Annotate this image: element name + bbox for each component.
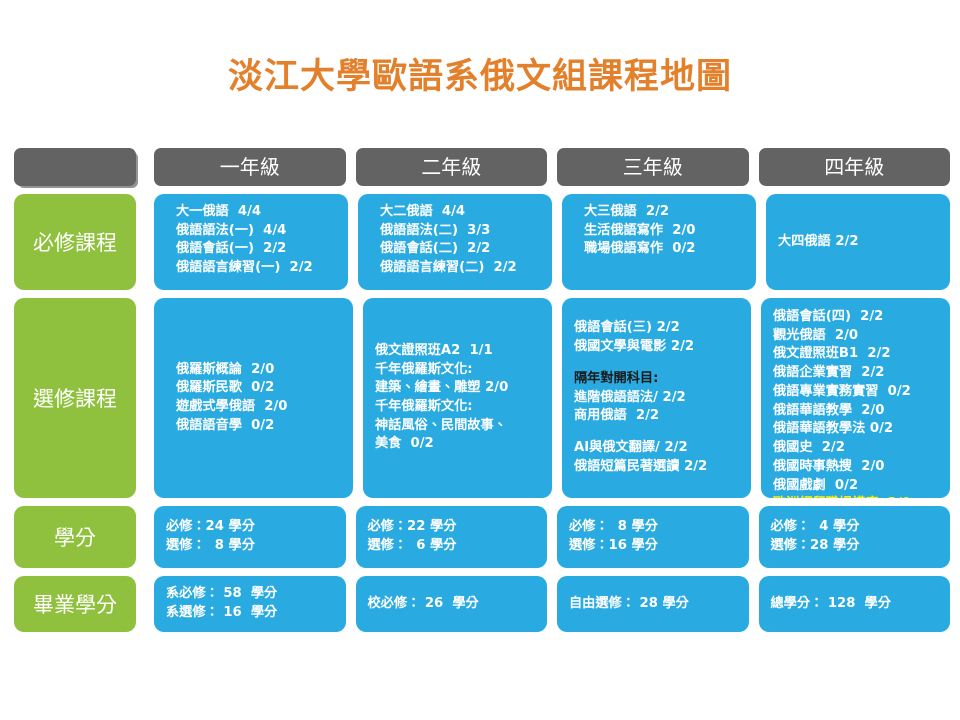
course-line: 俄語華語教學法 0/2	[773, 420, 938, 439]
course-line: 必修：24 學分	[166, 518, 334, 537]
course-line: 生活俄語寫作 2/0	[584, 222, 744, 241]
course-line: 系必修： 58 學分	[166, 585, 334, 604]
course-line: 俄語專業實務實習 0/2	[773, 383, 938, 402]
course-line: 俄國文學與電影 2/2	[574, 338, 739, 357]
line-spacer	[574, 357, 739, 370]
cell-credits-year-3: 必修： 8 學分選修：16 學分	[557, 506, 749, 568]
course-line: 俄語會話(三) 2/2	[574, 319, 739, 338]
row-label-required-courses: 必修課程	[14, 194, 136, 290]
course-line: 千年俄羅斯文化:	[375, 361, 540, 380]
cell-graduation-credits-year-3: 自由選修： 28 學分	[557, 576, 749, 632]
cell-lines: 大三俄語 2/2生活俄語寫作 2/0職場俄語寫作 0/2	[584, 203, 744, 259]
course-line: 神話風俗、民間故事、	[375, 417, 540, 436]
cell-lines: 系必修： 58 學分系選修： 16 學分	[166, 585, 334, 622]
course-line: 進階俄語語法/ 2/2	[574, 389, 739, 408]
cell-lines: 總學分： 128 學分	[771, 595, 939, 614]
cell-graduation-credits-year-1: 系必修： 58 學分系選修： 16 學分	[154, 576, 346, 632]
course-line: 俄語短篇民著選讀 2/2	[574, 458, 739, 477]
course-map-slide: 淡江大學歐語系俄文組課程地圖 一年級 二年級 三年級 四年級 必修課程大一俄語 …	[0, 0, 960, 720]
course-map-grid: 一年級 二年級 三年級 四年級 必修課程大一俄語 4/4俄語語法(一) 4/4俄…	[14, 148, 950, 640]
row-label-credits: 學分	[14, 506, 136, 568]
course-line: 俄語會話(二) 2/2	[380, 240, 540, 259]
cell-lines: 大四俄語 2/2	[778, 233, 938, 252]
row-required-courses: 必修課程大一俄語 4/4俄語語法(一) 4/4俄語會話(一) 2/2俄語語言練習…	[14, 194, 950, 290]
course-line: 千年俄羅斯文化:	[375, 398, 540, 417]
cell-graduation-credits-year-4: 總學分： 128 學分	[759, 576, 951, 632]
course-line: 俄語會話(一) 2/2	[176, 240, 336, 259]
grid-body: 必修課程大一俄語 4/4俄語語法(一) 4/4俄語會話(一) 2/2俄語語言練習…	[14, 194, 950, 632]
row-label-graduation-credits: 畢業學分	[14, 576, 136, 632]
course-line: 必修：22 學分	[368, 518, 536, 537]
course-line: 建築、繪畫、雕塑 2/0	[375, 379, 540, 398]
header-year-2: 二年級	[356, 148, 548, 186]
header-row: 一年級 二年級 三年級 四年級	[14, 148, 950, 186]
course-line: 俄國史 2/2	[773, 439, 938, 458]
course-line: 選修：28 學分	[771, 537, 939, 556]
course-line: 自由選修： 28 學分	[569, 595, 737, 614]
cell-lines: 必修：24 學分選修： 8 學分	[166, 518, 334, 555]
course-line: 選修：16 學分	[569, 537, 737, 556]
course-line: 大一俄語 4/4	[176, 203, 336, 222]
course-line: 大四俄語 2/2	[778, 233, 938, 252]
header-year-4: 四年級	[759, 148, 951, 186]
course-line: 商用俄語 2/2	[574, 407, 739, 426]
cell-lines: 大二俄語 4/4俄語語法(二) 3/3俄語會話(二) 2/2俄語語言練習(二) …	[380, 203, 540, 278]
course-line: AI與俄文翻譯/ 2/2	[574, 439, 739, 458]
course-line: 俄語語音學 0/2	[176, 417, 341, 436]
course-line: 選修： 8 學分	[166, 537, 334, 556]
cell-graduation-credits-year-2: 校必修： 26 學分	[356, 576, 548, 632]
course-line: 選修： 6 學分	[368, 537, 536, 556]
header-year-1: 一年級	[154, 148, 346, 186]
row-elective-courses: 選修課程俄羅斯概論 2/0俄羅斯民歌 0/2遊戲式學俄語 2/0俄語語音學 0/…	[14, 298, 950, 498]
cell-lines: 俄語會話(三) 2/2俄國文學與電影 2/2隔年對開科目:進階俄語語法/ 2/2…	[574, 319, 739, 476]
course-line: 必修： 4 學分	[771, 518, 939, 537]
course-line: 遊戲式學俄語 2/0	[176, 398, 341, 417]
cell-lines: 俄羅斯概論 2/0俄羅斯民歌 0/2遊戲式學俄語 2/0俄語語音學 0/2	[176, 361, 341, 436]
cell-lines: 必修：22 學分選修： 6 學分	[368, 518, 536, 555]
course-line: 俄文證照班A2 1/1	[375, 342, 540, 361]
row-label-elective-courses: 選修課程	[14, 298, 136, 498]
course-line: 俄羅斯民歌 0/2	[176, 379, 341, 398]
course-line: 俄文證照班B1 2/2	[773, 345, 938, 364]
cell-lines: 必修： 8 學分選修：16 學分	[569, 518, 737, 555]
row-graduation-credits: 畢業學分系必修： 58 學分系選修： 16 學分校必修： 26 學分自由選修： …	[14, 576, 950, 632]
course-line: 俄語語法(一) 4/4	[176, 222, 336, 241]
line-spacer	[574, 426, 739, 439]
course-line: 俄語會話(四) 2/2	[773, 308, 938, 327]
course-line: 俄語語言練習(一) 2/2	[176, 259, 336, 278]
course-line: 美食 0/2	[375, 435, 540, 454]
cell-credits-year-1: 必修：24 學分選修： 8 學分	[154, 506, 346, 568]
course-line: 總學分： 128 學分	[771, 595, 939, 614]
course-line: 俄語華語教學 2/0	[773, 402, 938, 421]
row-credits: 學分必修：24 學分選修： 8 學分必修：22 學分選修： 6 學分必修： 8 …	[14, 506, 950, 568]
course-line: 俄國時事熱搜 2/0	[773, 458, 938, 477]
course-line: 職場俄語寫作 0/2	[584, 240, 744, 259]
cell-lines: 俄語會話(四) 2/2觀光俄語 2/0俄文證照班B1 2/2俄語企業實習 2/2…	[773, 308, 938, 498]
cell-elective-courses-year-1: 俄羅斯概論 2/0俄羅斯民歌 0/2遊戲式學俄語 2/0俄語語音學 0/2	[154, 298, 353, 498]
header-year-3: 三年級	[557, 148, 749, 186]
course-line: 必修： 8 學分	[569, 518, 737, 537]
cell-required-courses-year-3: 大三俄語 2/2生活俄語寫作 2/0職場俄語寫作 0/2	[562, 194, 756, 290]
course-line: 校必修： 26 學分	[368, 595, 536, 614]
course-line: 大二俄語 4/4	[380, 203, 540, 222]
course-line: 歐洲經貿職場講座 2/0	[773, 495, 938, 498]
course-line: 觀光俄語 2/0	[773, 327, 938, 346]
course-line: 俄語語法(二) 3/3	[380, 222, 540, 241]
cell-lines: 大一俄語 4/4俄語語法(一) 4/4俄語會話(一) 2/2俄語語言練習(一) …	[176, 203, 336, 278]
cell-lines: 校必修： 26 學分	[368, 595, 536, 614]
page-title: 淡江大學歐語系俄文組課程地圖	[0, 58, 960, 97]
cell-required-courses-year-4: 大四俄語 2/2	[766, 194, 950, 290]
course-line: 隔年對開科目:	[574, 370, 739, 389]
cell-elective-courses-year-4: 俄語會話(四) 2/2觀光俄語 2/0俄文證照班B1 2/2俄語企業實習 2/2…	[761, 298, 950, 498]
cell-elective-courses-year-2: 俄文證照班A2 1/1千年俄羅斯文化:建築、繪畫、雕塑 2/0千年俄羅斯文化:神…	[363, 298, 552, 498]
cell-lines: 必修： 4 學分選修：28 學分	[771, 518, 939, 555]
cell-elective-courses-year-3: 俄語會話(三) 2/2俄國文學與電影 2/2隔年對開科目:進階俄語語法/ 2/2…	[562, 298, 751, 498]
course-line: 俄語企業實習 2/2	[773, 364, 938, 383]
course-line: 大三俄語 2/2	[584, 203, 744, 222]
cell-lines: 自由選修： 28 學分	[569, 595, 737, 614]
course-line: 俄語語言練習(二) 2/2	[380, 259, 540, 278]
grid-corner-cell	[14, 148, 136, 186]
course-line: 俄羅斯概論 2/0	[176, 361, 341, 380]
cell-credits-year-2: 必修：22 學分選修： 6 學分	[356, 506, 548, 568]
cell-required-courses-year-1: 大一俄語 4/4俄語語法(一) 4/4俄語會話(一) 2/2俄語語言練習(一) …	[154, 194, 348, 290]
cell-required-courses-year-2: 大二俄語 4/4俄語語法(二) 3/3俄語會話(二) 2/2俄語語言練習(二) …	[358, 194, 552, 290]
cell-credits-year-4: 必修： 4 學分選修：28 學分	[759, 506, 951, 568]
course-line: 系選修： 16 學分	[166, 604, 334, 623]
course-line: 俄國戲劇 0/2	[773, 477, 938, 496]
cell-lines: 俄文證照班A2 1/1千年俄羅斯文化:建築、繪畫、雕塑 2/0千年俄羅斯文化:神…	[375, 342, 540, 454]
